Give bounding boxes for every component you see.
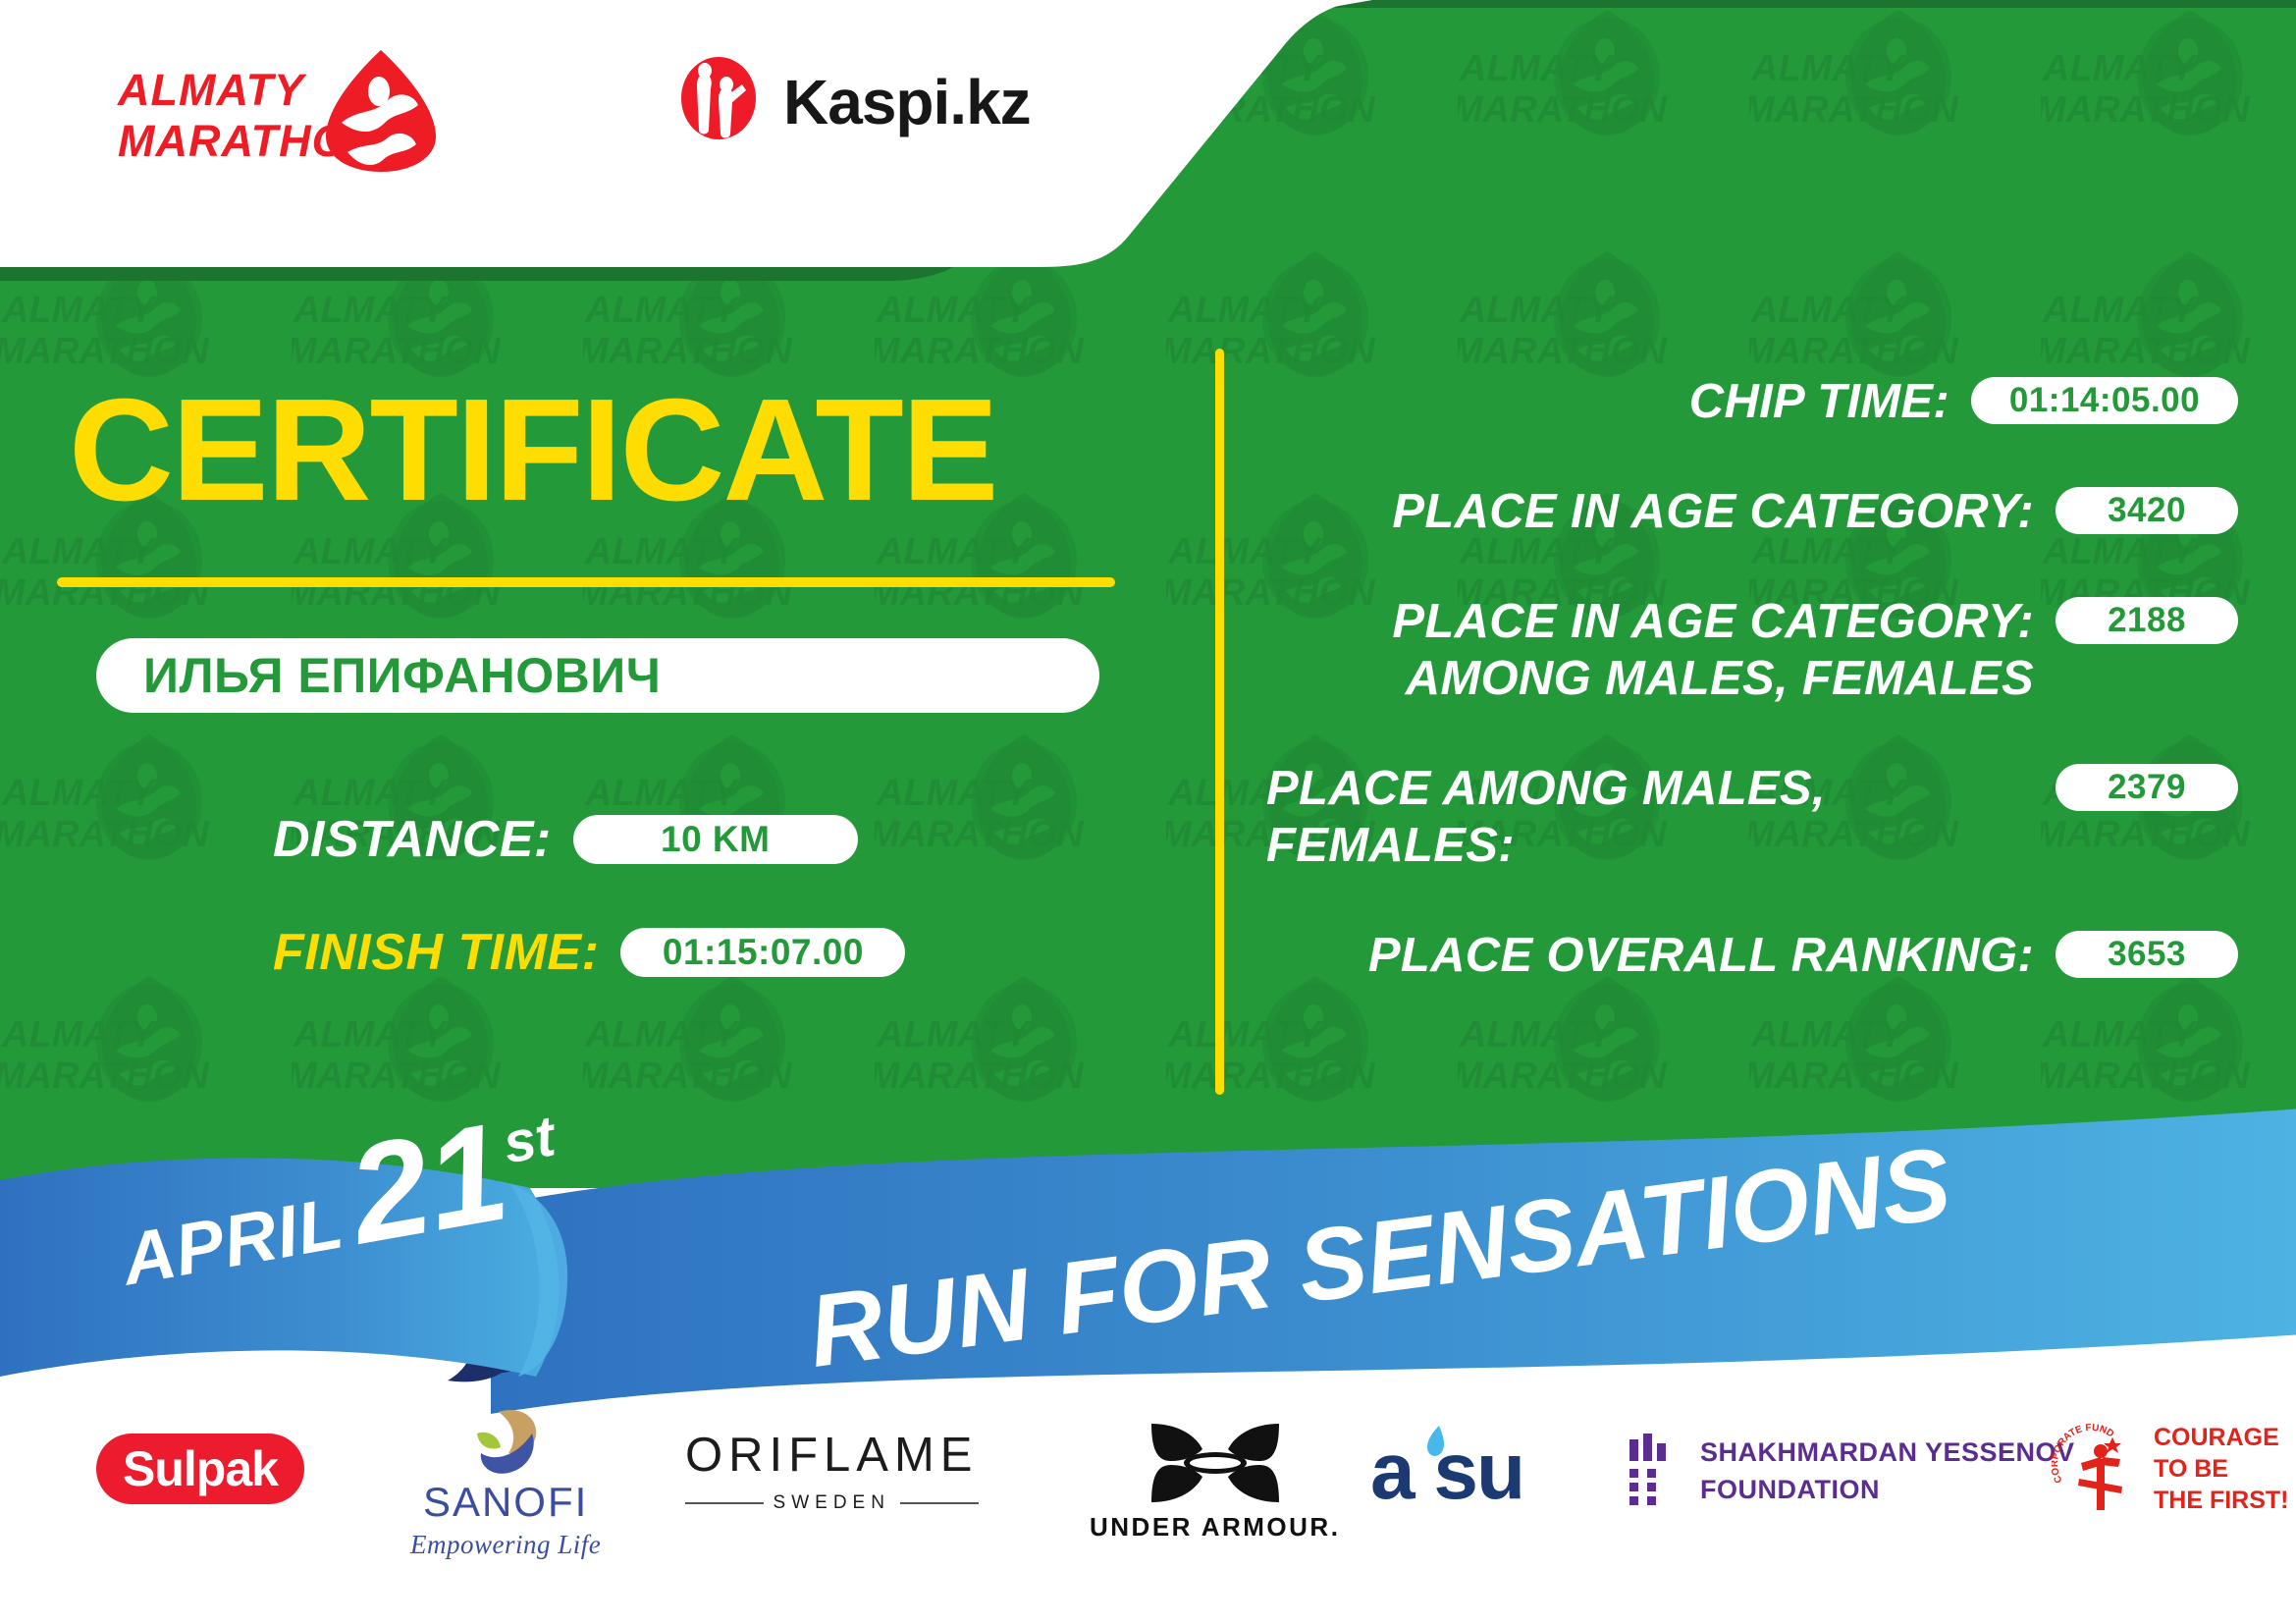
- participant-name-value: ИЛЬЯ ЕПИФАНОВИЧ: [96, 647, 661, 704]
- vertical-divider: [1215, 349, 1224, 1095]
- stat-value-pill: 3420: [2056, 487, 2238, 534]
- stat-row-place-overall-ranking: PLACE OVERALL RANKING: 3653: [1266, 927, 2238, 984]
- almau-droplet-icon: [1425, 1426, 1447, 1459]
- stat-label: PLACE AMONG MALES, FEMALES:: [1266, 760, 2034, 874]
- divider-line: [685, 1502, 764, 1504]
- divider-line: [900, 1502, 979, 1504]
- stat-label: PLACE OVERALL RANKING:: [1266, 927, 2034, 984]
- sponsor-oriflame: ORIFLAME SWEDEN: [685, 1428, 978, 1514]
- distance-label: DISTANCE:: [273, 810, 552, 869]
- finish-time-value-pill: 01:15:07.00: [620, 928, 905, 977]
- yessenov-bars-icon: [1628, 1434, 1679, 1508]
- stat-label: CHIP TIME:: [1266, 373, 1949, 430]
- sponsor-oriflame-sub: SWEDEN: [774, 1492, 890, 1514]
- stat-value: 2379: [2108, 768, 2186, 807]
- page-title: CERTIFICATE: [69, 378, 996, 523]
- sponsor-yessenov-foundation: SHAKHMARDAN YESSENOV FOUNDATION: [1628, 1434, 2075, 1508]
- certificate-page: ALMATY MARATHON ALMATY MARATHON: [0, 0, 2296, 1624]
- sponsor-courage-text: COURAGE TO BE THE FIRST!: [2154, 1422, 2289, 1516]
- almaty-marathon-logo: ALMATY MARATHON: [118, 51, 442, 179]
- distance-value: 10 KM: [661, 819, 770, 860]
- participant-name-field: ИЛЬЯ ЕПИФАНОВИЧ: [96, 638, 1099, 713]
- under-armour-icon: [1142, 1420, 1289, 1506]
- sanofi-leaf-icon: [469, 1408, 542, 1477]
- sponsor-under-armour: UNDER ARMOUR.: [1090, 1420, 1340, 1543]
- sponsor-courage-fund: CORPORATE FUND COURAGE TO BE THE FIRST!: [2052, 1422, 2289, 1516]
- distance-value-pill: 10 KM: [573, 815, 858, 864]
- stats-list: CHIP TIME: 01:14:05.00 PLACE IN AGE CATE…: [1266, 373, 2238, 1037]
- stat-value-pill: 2188: [2056, 597, 2238, 644]
- stat-row-place-age-category-among: PLACE IN AGE CATEGORY: AMONG MALES, FEMA…: [1266, 593, 2238, 707]
- sponsor-almau-name: a su: [1370, 1432, 1523, 1512]
- sponsor-oriflame-subline: SWEDEN: [685, 1492, 978, 1514]
- sponsor-almau: a su: [1370, 1432, 1523, 1512]
- kaspi-logo: Kaspi.kz: [675, 57, 1031, 147]
- finish-time-label: FINISH TIME:: [273, 923, 599, 982]
- stat-value-pill: 2379: [2056, 764, 2238, 811]
- header-logos: ALMATY MARATHON Kaspi.kz: [0, 0, 1394, 275]
- finish-time-value: 01:15:07.00: [663, 932, 864, 973]
- kaspi-people-icon: [675, 57, 762, 147]
- stat-value-pill: 01:14:05.00: [1971, 377, 2238, 424]
- runner-drop-icon: [322, 48, 440, 174]
- sponsor-under-armour-name: UNDER ARMOUR.: [1090, 1512, 1340, 1543]
- distance-row: DISTANCE: 10 KM: [273, 810, 858, 869]
- event-day: 21: [342, 1109, 516, 1259]
- sponsor-sanofi: SANOFI Empowering Life: [410, 1408, 601, 1560]
- sponsor-oriflame-name: ORIFLAME: [685, 1428, 978, 1483]
- sponsor-sanofi-name: SANOFI: [423, 1479, 588, 1526]
- sponsor-sanofi-tagline: Empowering Life: [410, 1530, 601, 1560]
- title-underline: [57, 577, 1115, 587]
- stat-row-chip-time: CHIP TIME: 01:14:05.00: [1266, 373, 2238, 430]
- stat-value-pill: 3653: [2056, 931, 2238, 978]
- sponsor-sulpak-label: Sulpak: [123, 1440, 278, 1497]
- sponsor-sulpak: Sulpak: [96, 1434, 304, 1504]
- stat-row-place-age-category: PLACE IN AGE CATEGORY: 3420: [1266, 483, 2238, 540]
- kaspi-logo-text: Kaspi.kz: [783, 66, 1031, 138]
- stat-label: PLACE IN AGE CATEGORY: AMONG MALES, FEMA…: [1266, 593, 2034, 707]
- sponsor-yessenov-name: SHAKHMARDAN YESSENOV FOUNDATION: [1700, 1434, 2075, 1508]
- stat-value: 2188: [2108, 601, 2186, 640]
- stat-value: 01:14:05.00: [2009, 381, 2200, 420]
- courage-figure-icon: CORPORATE FUND: [2052, 1422, 2146, 1516]
- sponsors-bar: Sulpak SANOFI Empowering Life ORIFLAME S…: [0, 1414, 2296, 1624]
- finish-time-row: FINISH TIME: 01:15:07.00: [273, 923, 905, 982]
- stat-value: 3420: [2108, 491, 2186, 530]
- stat-label: PLACE IN AGE CATEGORY:: [1266, 483, 2034, 540]
- event-day-suffix: st: [499, 1103, 560, 1176]
- stat-row-place-among-males-females: PLACE AMONG MALES, FEMALES: 2379: [1266, 760, 2238, 874]
- stat-value: 3653: [2108, 935, 2186, 974]
